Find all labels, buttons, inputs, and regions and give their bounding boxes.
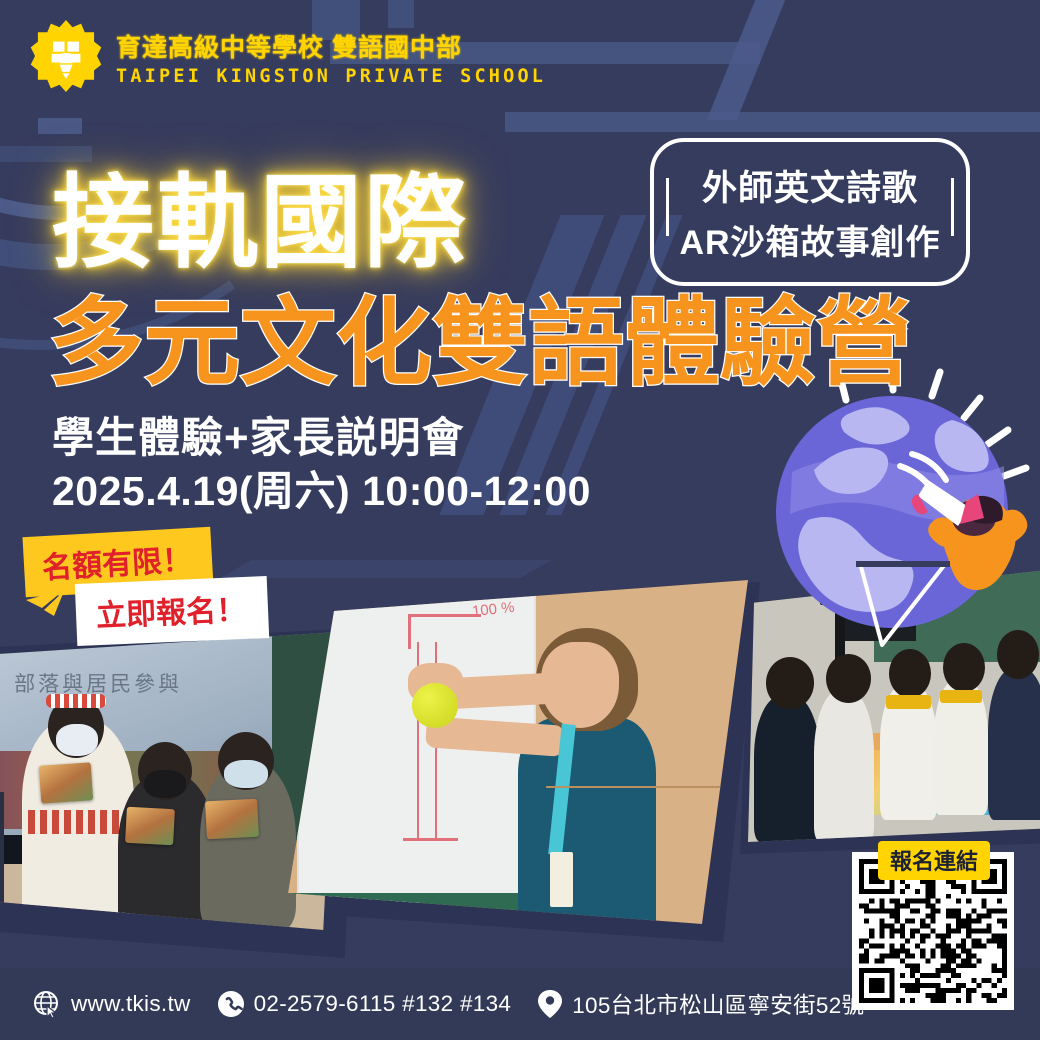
footer-website-text: www.tkis.tw: [71, 991, 191, 1017]
decor-stripe: [707, 0, 794, 120]
footer-phone-text: 02-2579-6115 #132 #134: [254, 991, 512, 1017]
globe-icon: [32, 989, 62, 1019]
photo2-marker-line: [403, 838, 458, 841]
decor-square: [38, 118, 82, 134]
lion-sunburst-logo-icon: [30, 20, 102, 92]
bubble-tick-right: [951, 178, 954, 236]
decor-bar: [505, 112, 1040, 132]
school-name-block: 育達高級中等學校 雙語國中部 TAIPEI KINGSTON PRIVATE S…: [116, 26, 546, 87]
photo-teacher-demo: 100 %: [288, 580, 748, 924]
headline-primary: 接軌國際: [52, 168, 468, 278]
decor-bar: [0, 146, 92, 162]
bubble-line-1: 外師英文詩歌: [702, 160, 918, 211]
qr-label: 報名連結: [878, 841, 990, 880]
event-info: 學生體驗+家長説明會 2025.4.19(周六) 10:00-12:00: [52, 412, 591, 517]
photo2-tennis-ball: [412, 683, 458, 728]
footer-phone[interactable]: 02-2579-6115 #132 #134: [217, 990, 512, 1018]
photo3-jersey-collar: [886, 695, 931, 709]
bubble-line-2: AR沙箱故事創作: [679, 215, 940, 264]
poster-root: 育達高級中等學校 雙語國中部 TAIPEI KINGSTON PRIVATE S…: [0, 0, 1040, 1040]
school-name-en: TAIPEI KINGSTON PRIVATE SCHOOL: [116, 66, 546, 87]
photo2-marker-line: [408, 614, 482, 617]
header: 育達高級中等學校 雙語國中部 TAIPEI KINGSTON PRIVATE S…: [30, 20, 546, 92]
bubble-tick-left: [666, 178, 669, 236]
event-audience: 學生體驗+家長説明會: [52, 412, 591, 465]
photo1-mask-child-2: [224, 760, 268, 788]
photo1-card: [125, 807, 175, 845]
photo3-student-head: [889, 649, 931, 698]
footer-website[interactable]: www.tkis.tw: [32, 989, 191, 1019]
badge-signup-now[interactable]: 立即報名！: [75, 576, 269, 646]
photo3-student-head: [766, 657, 814, 709]
photo3-student-head: [826, 654, 871, 703]
photo1-mask-child-1: [144, 770, 186, 798]
photo1-headband: [46, 694, 106, 708]
photo1-sash: [28, 810, 130, 834]
feature-speech-bubble: 外師英文詩歌 AR沙箱故事創作: [650, 138, 970, 286]
photo3-jersey-collar: [940, 690, 982, 704]
footer-address: 105台北市松山區寧安街52號: [537, 988, 864, 1020]
photo-students-presentation: 部落與居民參與: [0, 632, 338, 930]
headline-secondary: 多元文化雙語體驗營: [48, 292, 912, 396]
paper-plane-icon: [24, 588, 70, 627]
photo2-marker-line: [408, 614, 411, 648]
school-name-cn: 育達高級中等學校 雙語國中部: [116, 28, 546, 64]
photo1-card: [39, 762, 94, 804]
photo1-mask-adult: [56, 724, 98, 756]
photo2-badge-card: [550, 852, 573, 907]
photo1-card: [205, 799, 259, 840]
footer-address-text: 105台北市松山區寧安街52號: [572, 988, 864, 1020]
qr-code-canvas: [859, 859, 1007, 1003]
photo2-wall-seam: [546, 786, 748, 788]
photo3-student: [754, 695, 820, 842]
event-datetime: 2025.4.19(周六) 10:00-12:00: [52, 465, 591, 517]
location-pin-icon: [537, 989, 563, 1019]
photo3-student: [988, 668, 1040, 820]
photo3-student: [814, 690, 874, 842]
phone-icon: [217, 990, 245, 1018]
